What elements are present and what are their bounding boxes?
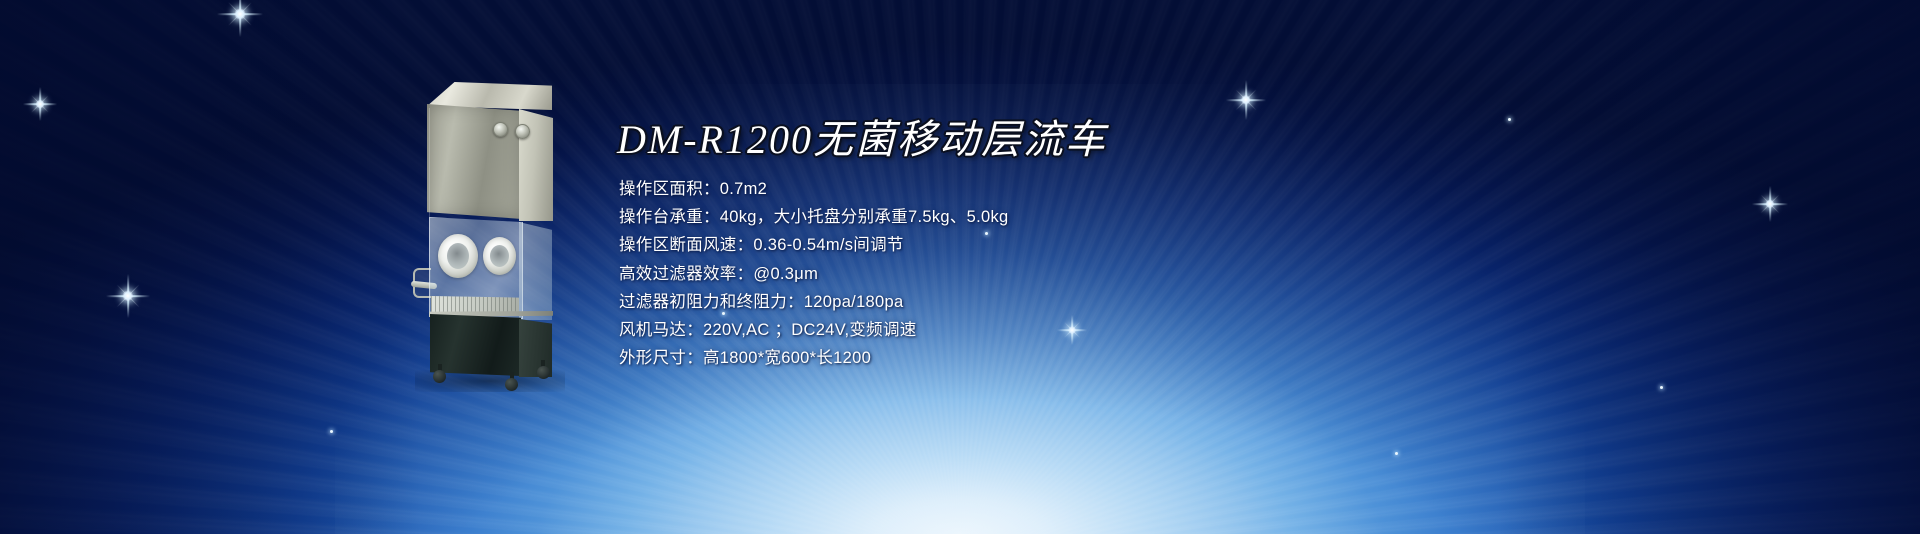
spec-list: 操作区面积：0.7m2操作台承重：40kg，大小托盘分别承重7.5kg、5.0k… — [619, 175, 1339, 372]
spec-line: 操作区断面风速：0.36-0.54m/s间调节 — [619, 231, 1339, 259]
spec-line: 过滤器初阻力和终阻力：120pa/180pa — [619, 288, 1339, 316]
page-title: DM-R1200无菌移动层流车 — [617, 117, 1107, 163]
glove-port-left-opening — [447, 243, 469, 269]
pressure-gauge-icon — [493, 122, 508, 137]
pressure-gauge-secondary-icon — [515, 124, 530, 139]
product-glass-chamber-side — [519, 222, 552, 320]
product-banner: DM-R1200无菌移动层流车 操作区面积：0.7m2操作台承重：40kg，大小… — [0, 0, 1920, 534]
spec-line: 外形尺寸：高1800*宽600*长1200 — [619, 344, 1339, 372]
glove-port-right-opening — [490, 245, 509, 267]
product-image — [405, 82, 580, 392]
product-caster-wheel — [537, 366, 550, 379]
spec-line: 风机马达：220V,AC ；DC24V,变频调速 — [619, 316, 1339, 344]
product-base-cabinet-front — [430, 314, 521, 376]
spec-line: 高效过滤器效率：@0.3μm — [619, 260, 1339, 288]
product-upper-door — [427, 104, 522, 219]
spec-line: 操作台承重：40kg，大小托盘分别承重7.5kg、5.0kg — [619, 203, 1339, 231]
product-door-seam — [429, 108, 430, 218]
product-caster-wheel — [505, 378, 518, 391]
spec-line: 操作区面积：0.7m2 — [619, 175, 1339, 203]
product-caster-wheel — [433, 370, 446, 383]
